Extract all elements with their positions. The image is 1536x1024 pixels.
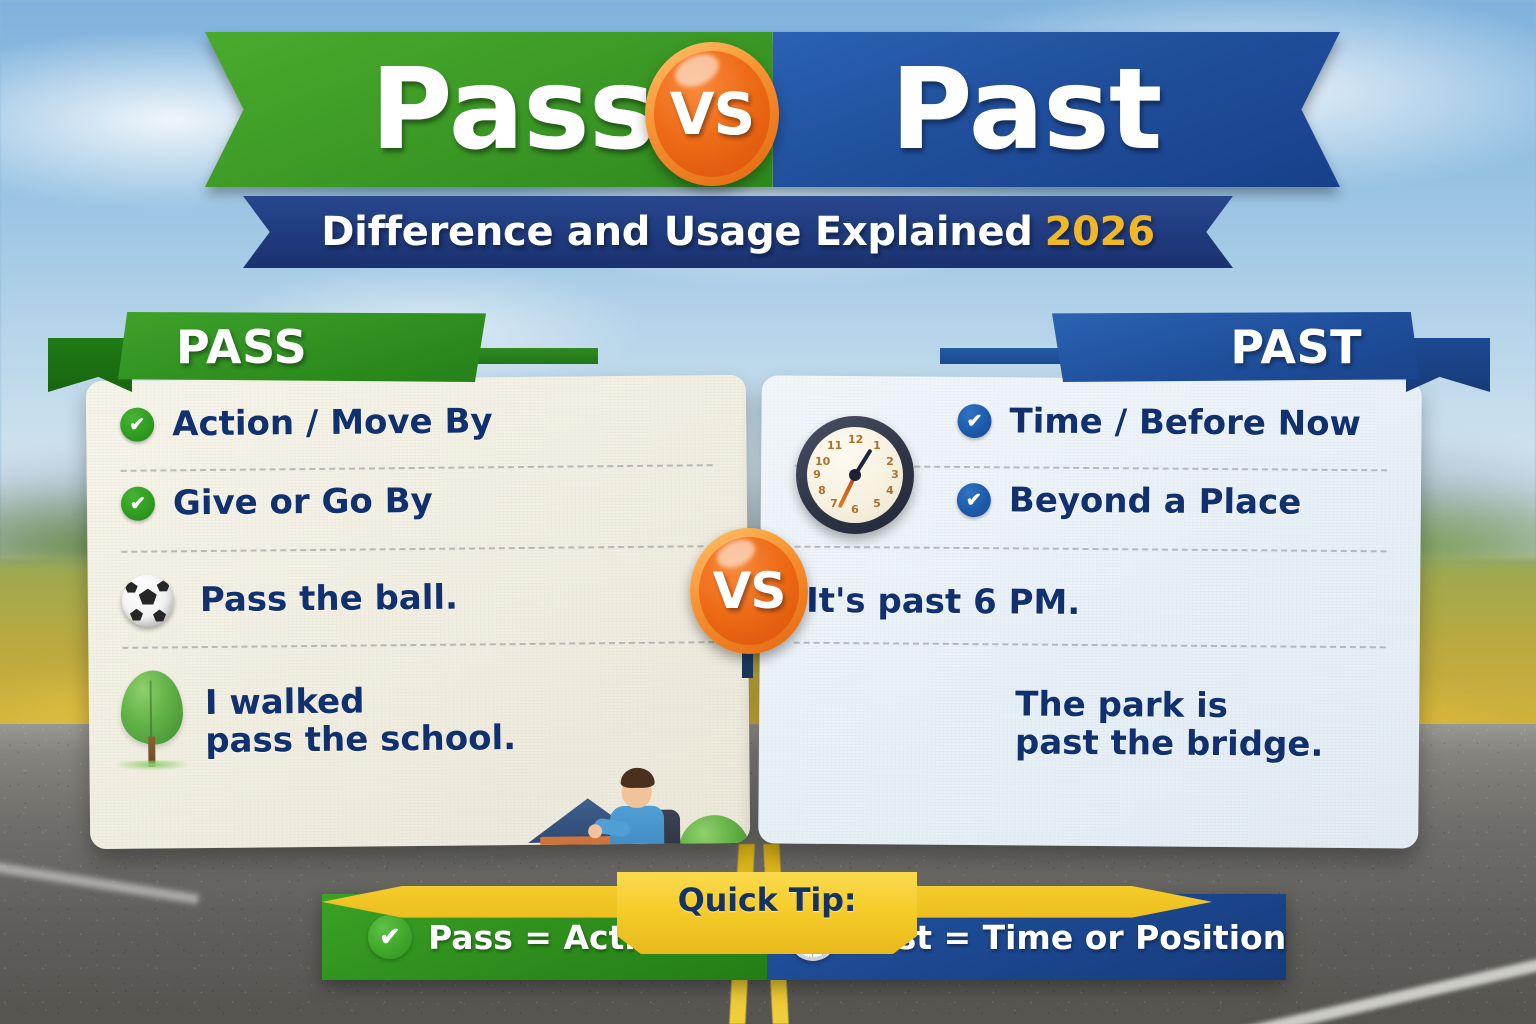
past-example-row-2: The park is past the bridge.: [1015, 685, 1324, 764]
pass-panel: ✔ Action / Move By ✔ Give or Go By Pass …: [86, 375, 750, 849]
pass-example-line-2: pass the school.: [205, 719, 516, 760]
title-right-word: Past: [773, 32, 1341, 187]
past-example-row-1: It's past 6 PM.: [806, 582, 1080, 622]
center-vs-label: VS: [690, 528, 808, 654]
clock-number: 12: [848, 433, 862, 446]
tree-ground: [115, 760, 189, 771]
ball-patch: [125, 582, 138, 593]
check-circle-blue-icon: ✔: [957, 404, 991, 438]
clock-number: 6: [848, 503, 862, 516]
pass-example-text-2: I walked pass the school.: [205, 681, 517, 760]
clock-center-pin: [849, 469, 861, 481]
past-bullet-row-1: ✔ Time / Before Now: [957, 401, 1361, 444]
past-bullet-row-2: ✔ Beyond a Place: [957, 480, 1302, 523]
past-ribbon-body: PAST: [1052, 312, 1420, 382]
check-mark-icon: ✔: [368, 915, 412, 959]
pass-bullet-label-2: Give or Go By: [173, 481, 433, 523]
pass-example-text-1: Pass the ball.: [200, 579, 458, 620]
check-circle-blue-icon: ✔: [957, 483, 991, 517]
past-example-line-1: The park is: [1015, 685, 1324, 725]
check-circle-green-icon: ✔: [120, 408, 154, 442]
wall-clock-icon: 12 1 2 3 4 5 6 7 8 9 10 11: [796, 416, 914, 534]
center-vs-badge: VS: [690, 528, 808, 654]
clock-number: 2: [883, 455, 897, 468]
ball-patch: [157, 580, 170, 591]
past-example-text-1: It's past 6 PM.: [806, 582, 1080, 622]
pass-bullet-row-2: ✔ Give or Go By: [121, 481, 433, 524]
pass-ribbon-body: PASS: [118, 312, 486, 382]
clock-number: 8: [815, 484, 829, 497]
clock-number: 10: [815, 455, 829, 468]
pass-divider-2: [121, 545, 713, 553]
quick-tip-label: Quick Tip:: [678, 881, 857, 919]
pass-example-row-1: Pass the ball.: [122, 572, 459, 627]
past-section-ribbon: PAST: [1052, 312, 1420, 382]
pass-divider-3: [122, 641, 714, 649]
past-ribbon-strip: [940, 348, 1060, 364]
pass-rows: ✔ Action / Move By ✔ Give or Go By Pass …: [86, 375, 750, 849]
past-example-text-2: The park is past the bridge.: [1015, 685, 1324, 764]
soccer-ball-icon: [122, 574, 174, 626]
pass-example-line-1: I walked: [205, 681, 516, 722]
check-circle-green-icon: ✔: [121, 487, 155, 521]
soccer-ball-body: [122, 574, 174, 626]
past-bullet-label-2: Beyond a Place: [1009, 480, 1302, 522]
title-banner-right-half: Past: [773, 32, 1341, 187]
past-divider-3: [794, 642, 1386, 649]
pass-ribbon-strip: [478, 348, 598, 364]
ball-patch: [153, 609, 166, 621]
clock-number: 3: [888, 468, 902, 481]
past-heading: PAST: [1230, 320, 1362, 374]
past-divider-2: [794, 546, 1386, 553]
subtitle-year: 2026: [1045, 209, 1155, 255]
clock-number: 5: [870, 497, 884, 510]
subtitle-banner: Difference and Usage Explained 2026: [243, 196, 1233, 268]
clock-face: 12 1 2 3 4 5 6 7 8 9 10 11: [807, 427, 903, 523]
pass-section-ribbon: PASS: [118, 312, 486, 382]
vs-badge-label: VS: [645, 42, 779, 186]
ball-patch: [139, 589, 157, 605]
subtitle-text: Difference and Usage Explained: [321, 209, 1032, 255]
pass-heading: PASS: [176, 320, 307, 374]
quick-tip-footer: ✔ Pass = Action Past = Time or Position …: [322, 872, 1212, 980]
pass-bullet-row-1: ✔ Action / Move By: [120, 401, 493, 445]
pass-divider-1: [121, 464, 713, 472]
ball-patch: [130, 609, 143, 621]
pass-bullet-label-1: Action / Move By: [172, 401, 493, 444]
tree-icon: [119, 670, 186, 767]
clock-number: 11: [827, 439, 841, 452]
past-bullet-label-1: Time / Before Now: [1009, 401, 1361, 444]
pass-example-row-2: I walked pass the school.: [119, 667, 517, 767]
clock-number: 4: [883, 484, 897, 497]
clock-number: 9: [810, 468, 824, 481]
title-vs-badge: VS: [645, 42, 779, 186]
past-example-line-2: past the bridge.: [1015, 723, 1324, 763]
quick-tip-tab: Quick Tip:: [617, 872, 917, 954]
